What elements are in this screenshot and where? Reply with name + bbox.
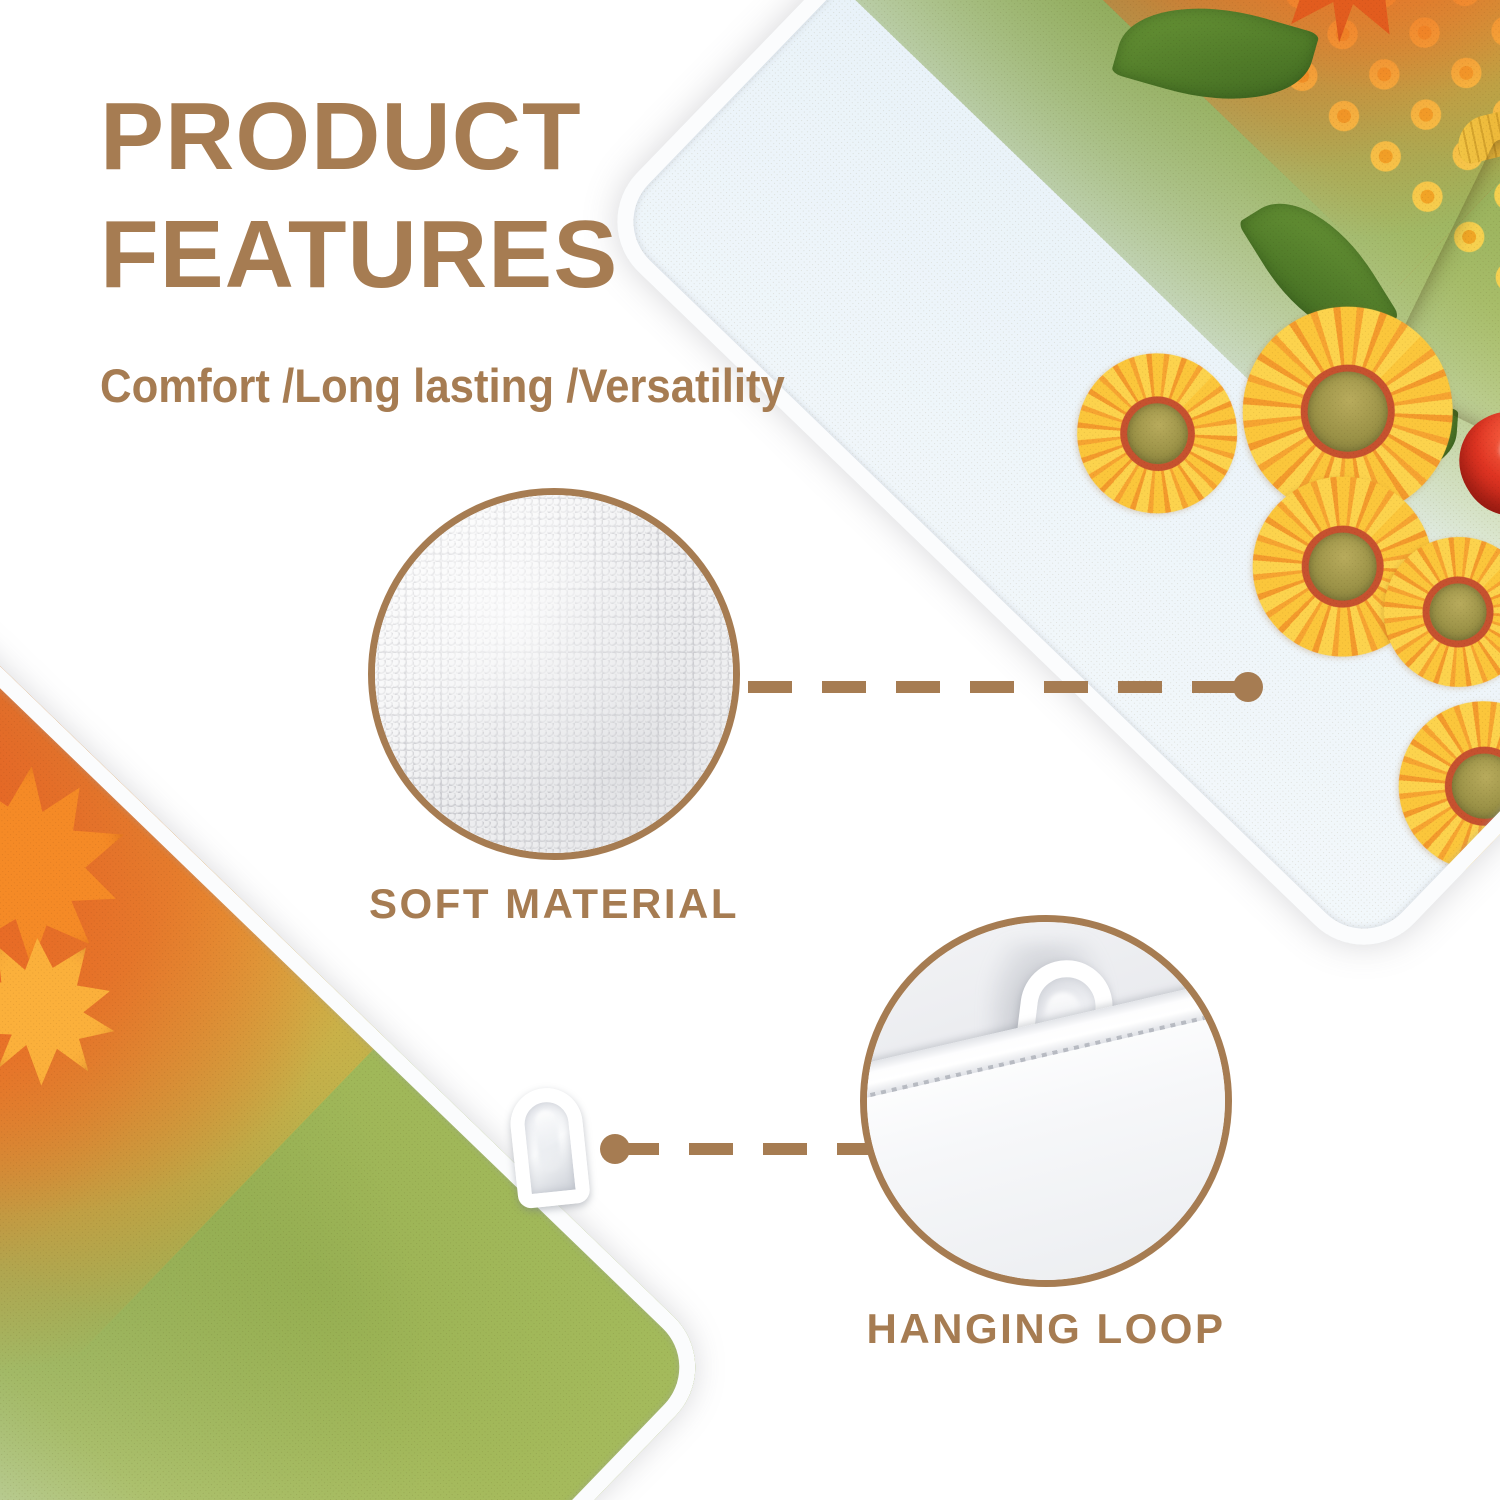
connector-endpoint-dot bbox=[600, 1134, 630, 1164]
product-features-infographic: PRODUCT FEATURES Comfort /Long lasting /… bbox=[0, 0, 1500, 1500]
headline-line-1: PRODUCT bbox=[100, 78, 880, 196]
subtitle: Comfort /Long lasting /Versatility bbox=[100, 358, 785, 414]
dashed-connector-icon bbox=[615, 1143, 885, 1155]
terry-cloth-texture-icon bbox=[375, 495, 733, 853]
terry-shading bbox=[375, 495, 733, 853]
callout-soft-material-image bbox=[368, 488, 740, 860]
callout-hanging-loop-label: HANGING LOOP bbox=[860, 1305, 1232, 1353]
page-title: PRODUCT FEATURES bbox=[100, 78, 880, 314]
connector-dashes bbox=[615, 1143, 885, 1155]
towel-hanging-loop bbox=[513, 1088, 585, 1206]
connector-endpoint-dot bbox=[1233, 672, 1263, 702]
fabric-loop-icon bbox=[867, 922, 1225, 1280]
connector-dashes bbox=[748, 681, 1248, 693]
loop-photo bbox=[867, 922, 1225, 1280]
dashed-connector-icon bbox=[748, 681, 1248, 693]
callout-hanging-loop-image bbox=[860, 915, 1232, 1287]
callout-soft-material-label: SOFT MATERIAL bbox=[368, 880, 740, 928]
headline-line-2: FEATURES bbox=[100, 196, 880, 314]
